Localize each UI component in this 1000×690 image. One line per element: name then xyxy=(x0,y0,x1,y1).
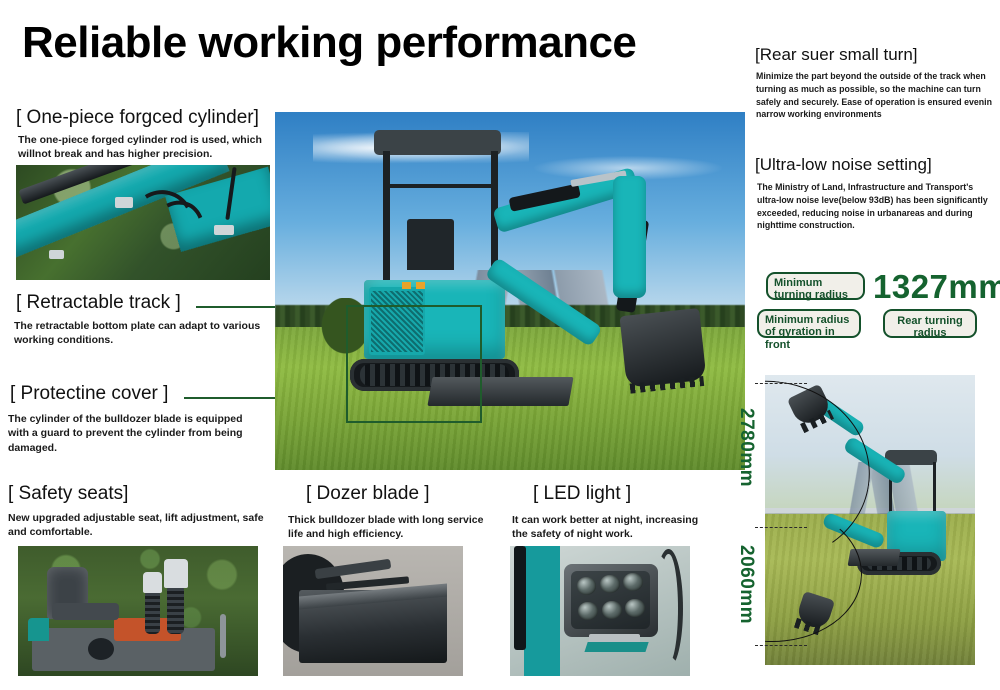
led-bulb-5 xyxy=(602,601,622,619)
joystick-right-grip xyxy=(164,559,188,588)
photo-safety-seats xyxy=(18,546,258,676)
canopy-post-left xyxy=(383,151,390,294)
feature-body-led: It can work better at night, increasing … xyxy=(512,513,712,542)
joystick-left-grip xyxy=(143,572,162,593)
feature-heading-cylinder: [ One-piece forgced cylinder] xyxy=(16,107,259,129)
hose-fitting-1 xyxy=(115,197,133,207)
canopy-roof xyxy=(374,130,501,155)
dimension-guide-mid xyxy=(755,527,807,528)
photo-dozer-blade xyxy=(283,546,463,676)
feature-heading-track: [ Retractable track ] xyxy=(16,292,181,314)
teal-frame-post xyxy=(524,546,560,676)
joystick-left xyxy=(145,590,159,634)
decal-2 xyxy=(416,282,425,289)
led-mount-plate xyxy=(584,642,649,652)
dimension-label-2780mm: 2780mm xyxy=(735,408,757,487)
hose-fitting-2 xyxy=(214,225,234,235)
decal-1 xyxy=(402,282,411,289)
spec-value-turning-radius: 1327mm xyxy=(873,268,1000,306)
teal-fender xyxy=(28,618,50,641)
feature-heading-rear-turn: [Rear suer small turn] xyxy=(755,45,918,65)
feature-heading-dozer: [ Dozer blade ] xyxy=(306,483,430,505)
photo-cylinder xyxy=(16,165,270,280)
feature-heading-led: [ LED light ] xyxy=(533,483,631,505)
feature-body-track: The retractable bottom plate can adapt t… xyxy=(14,319,264,348)
joystick-right xyxy=(167,585,184,634)
led-bulb-2 xyxy=(600,575,620,593)
dimension-guide-bottom xyxy=(755,645,807,646)
photo-working-reach xyxy=(765,375,975,665)
badge-rear-turning-radius[interactable]: Rear turning radius xyxy=(883,309,977,338)
photo-led-light xyxy=(510,546,690,676)
hose-fitting-3 xyxy=(49,250,64,259)
feature-body-seats: New upgraded adjustable seat, lift adjus… xyxy=(8,511,270,540)
grab-handle xyxy=(220,614,226,658)
seat-cushion xyxy=(52,603,119,620)
bucket xyxy=(619,308,706,388)
hero-callout-rectangle xyxy=(346,305,482,423)
canopy-crossbar xyxy=(383,184,496,188)
feature-body-rear-turn: Minimize the part beyond the outside of … xyxy=(756,70,992,121)
background-hose xyxy=(654,549,683,669)
feature-body-cover: The cylinder of the bulldozer blade is e… xyxy=(8,412,266,455)
dimension-label-2060mm: 2060mm xyxy=(735,545,757,624)
feature-heading-cover: [ Protectine cover ] xyxy=(10,383,168,405)
feature-body-dozer: Thick bulldozer blade with long service … xyxy=(288,513,488,542)
feature-heading-noise: [Ultra-low noise setting] xyxy=(755,155,932,175)
feature-body-noise: The Ministry of Land, Infrastructure and… xyxy=(757,181,995,232)
feature-heading-seats: [ Safety seats] xyxy=(8,483,128,505)
arm-lower xyxy=(613,176,646,298)
poster-root: Reliable working performance [ One-piece… xyxy=(0,0,1000,690)
dimension-guide-top xyxy=(755,383,807,384)
feature-body-cylinder: The one-piece forged cylinder rod is use… xyxy=(18,133,268,162)
photo-hero-excavator xyxy=(275,112,745,470)
dark-frame-bar xyxy=(514,546,527,650)
badge-minimum-radius-of-gyration[interactable]: Minimum radius of gyration in front xyxy=(757,309,861,338)
badge-minimum-turning-radius[interactable]: Minimum turning radius xyxy=(766,272,865,300)
operator-seat xyxy=(407,219,454,269)
page-title: Reliable working performance xyxy=(22,18,636,68)
